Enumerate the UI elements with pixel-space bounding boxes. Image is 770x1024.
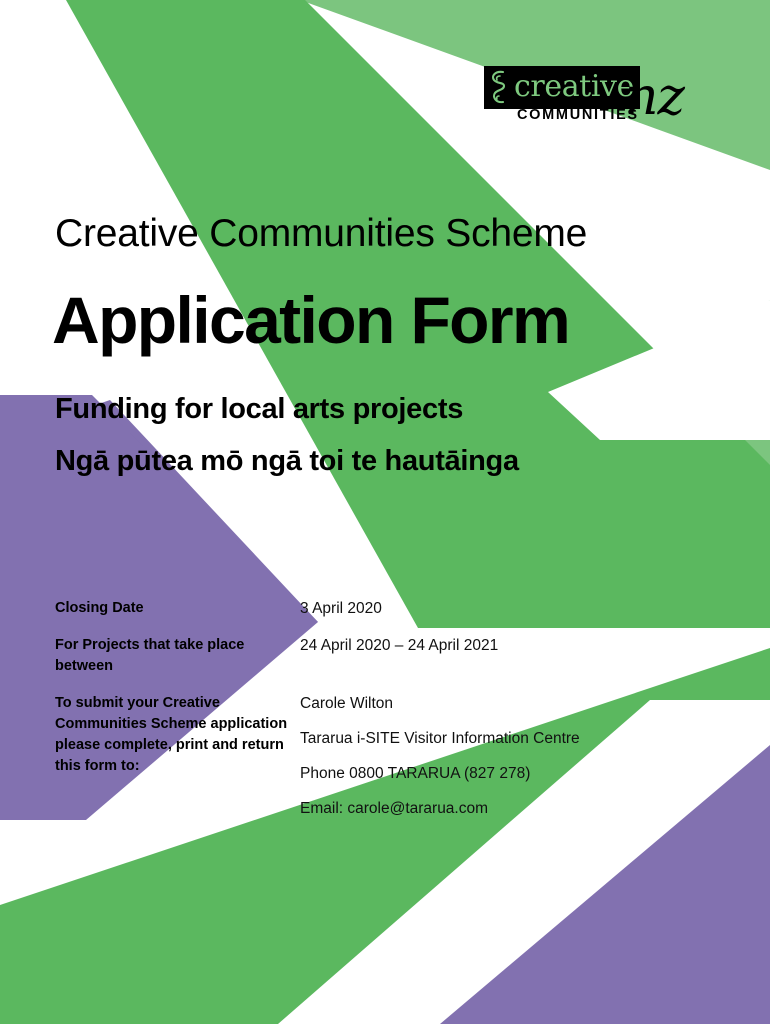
detail-values: 24 April 2020 – 24 April 2021 [300, 635, 715, 656]
page-title: Application Form [52, 282, 569, 358]
creative-communities-nz-logo: creative COMMUNITIES nz [484, 66, 730, 132]
contact-phone: Phone 0800 TARARUA (827 278) [300, 763, 715, 784]
contact-email: Email: carole@tararua.com [300, 798, 715, 819]
contact-organisation: Tararua i-SITE Visitor Information Centr… [300, 728, 715, 749]
decorative-background [0, 0, 770, 1024]
logo-nz-suffix: nz [625, 71, 684, 123]
detail-row: Closing Date 3 April 2020 [55, 598, 715, 619]
contact-name: Carole Wilton [300, 693, 715, 714]
detail-values: Carole Wilton Tararua i-SITE Visitor Inf… [300, 693, 715, 819]
details-block: Closing Date 3 April 2020 For Projects t… [55, 598, 715, 835]
subtitle-english: Funding for local arts projects [55, 393, 463, 426]
scheme-name: Creative Communities Scheme [55, 212, 587, 256]
detail-row: To submit your Creative Communities Sche… [55, 693, 715, 819]
cover-page: creative COMMUNITIES nz Creative Communi… [0, 0, 770, 1024]
koru-spiral-icon [487, 69, 513, 106]
detail-label: To submit your Creative Communities Sche… [55, 693, 300, 777]
detail-label: Closing Date [55, 598, 300, 619]
subtitle-maori: Ngā pūtea mō ngā toi te hautāinga [55, 445, 519, 478]
detail-value: 24 April 2020 – 24 April 2021 [300, 635, 715, 656]
detail-label: For Projects that take place between [55, 635, 300, 677]
detail-row: For Projects that take place between 24 … [55, 635, 715, 677]
detail-values: 3 April 2020 [300, 598, 715, 619]
detail-value: 3 April 2020 [300, 598, 715, 619]
logo-subword: COMMUNITIES [517, 107, 639, 123]
logo-wordmark: creative [514, 65, 634, 109]
purple-chevron-left-upper [0, 395, 318, 622]
